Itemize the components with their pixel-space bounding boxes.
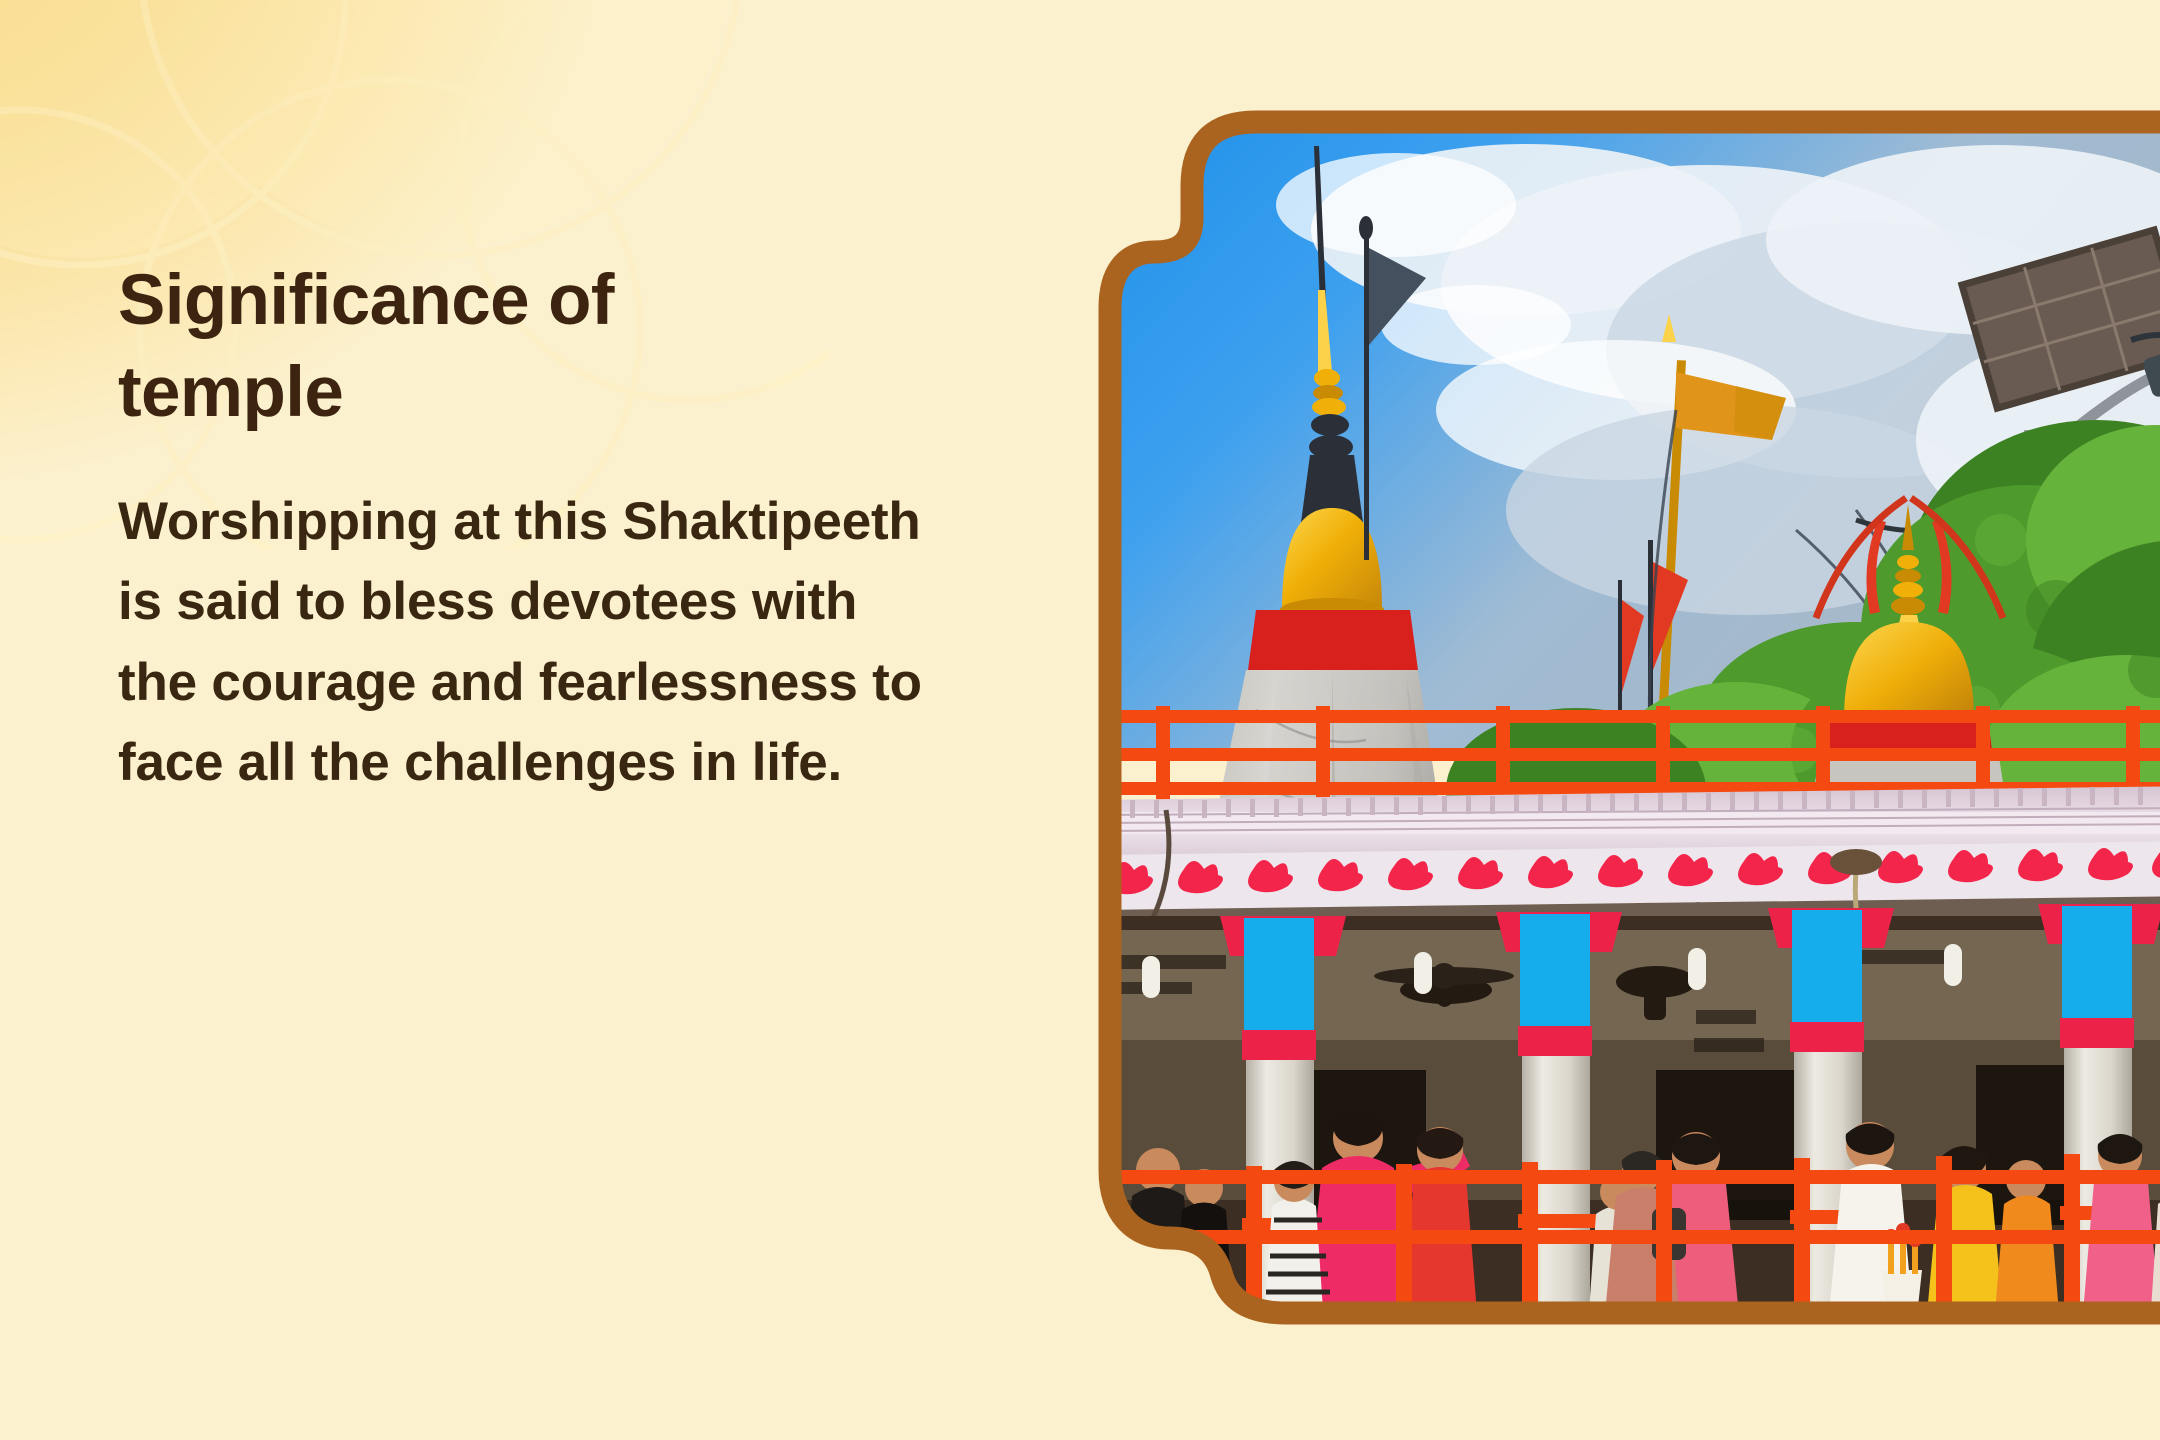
- temple-photograph: [1096, 110, 2160, 1325]
- terrace-railing: [1096, 706, 2160, 802]
- temple-photo-frame: [1096, 110, 2160, 1325]
- page-title: Significance of temple: [118, 255, 808, 440]
- body-paragraph: Worshipping at this Shaktipeeth is said …: [118, 482, 948, 804]
- text-column: Significance of temple Worshipping at th…: [118, 255, 948, 804]
